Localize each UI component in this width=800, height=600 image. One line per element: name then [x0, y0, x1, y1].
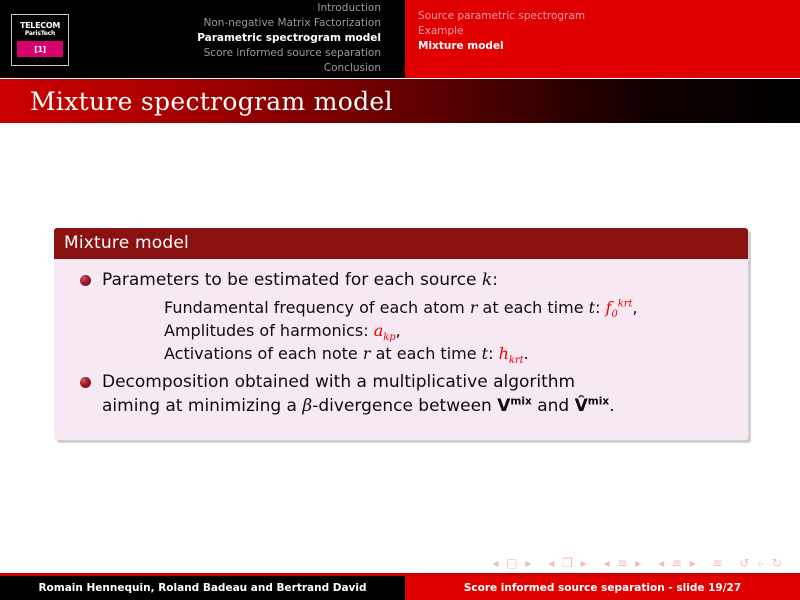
nav-subsection-source-parametric-spectrogram[interactable]: Source parametric spectrogram	[418, 9, 788, 24]
bullet2-line2-c: and	[532, 396, 575, 416]
sub-item-activations: Activations of each note r at each time …	[164, 342, 736, 365]
subitem3-symbol-base: h	[499, 344, 509, 363]
nav-section-introduction[interactable]: Introduction	[75, 1, 381, 16]
mixture-model-block: Mixture model Parameters to be estimated…	[54, 228, 748, 440]
bullet1-variable-k: k	[482, 270, 492, 290]
institution-logo: TELECOM ParisTech [1]	[11, 14, 69, 66]
subitem3-symbol: hkrt	[499, 344, 524, 363]
bullet1-text-after: :	[492, 270, 498, 290]
nav-subsection-mixture-model[interactable]: Mixture model	[418, 39, 788, 54]
matrix-v-mix-base: V	[497, 396, 510, 416]
beamer-navigation-symbols: ◂ □ ▸ ◂ ❐ ▸ ◂ ≡ ▸ ◂ ≡ ▸ ≡ ↺ ⌕ ↻	[0, 556, 800, 571]
subitem3-text-mid: at each time	[371, 344, 482, 363]
subitem3-var-r: r	[363, 344, 371, 363]
logo-magenta-block: [1]	[17, 41, 63, 57]
subitem1-symbol-sub: 0	[611, 309, 617, 320]
subitem3-colon: :	[488, 344, 498, 363]
nav-section-nmf[interactable]: Non-negative Matrix Factorization	[75, 16, 381, 31]
section-navigation: Introduction Non-negative Matrix Factori…	[75, 1, 395, 76]
nav-section-score-informed-source-separation[interactable]: Score informed source separation	[75, 46, 381, 61]
nav-section-parametric-spectrogram-model[interactable]: Parametric spectrogram model	[75, 31, 381, 46]
bullet2-line2-a: aiming at minimizing a	[102, 396, 302, 416]
subitem3-symbol-sub: krt	[509, 355, 524, 366]
subitem1-colon: :	[595, 298, 605, 317]
nav-section-conclusion[interactable]: Conclusion	[75, 61, 381, 76]
matrix-v-mix: Vmix	[497, 396, 532, 416]
subitem1-text-mid: at each time	[477, 298, 588, 317]
subitem1-text-before: Fundamental frequency of each atom	[164, 298, 470, 317]
matrix-v-hat-mix: V̂mix	[575, 396, 610, 416]
sub-item-list: Fundamental frequency of each atom r at …	[102, 296, 736, 365]
nav-symbol-back-search-forward-icon[interactable]: ↺ ⌕ ↻	[740, 556, 784, 570]
nav-symbol-document-icon[interactable]: ≡	[713, 556, 725, 570]
subitem2-text-before: Amplitudes of harmonics:	[164, 321, 374, 340]
matrix-v-hat-mix-sup: mix	[588, 395, 609, 407]
subitem2-symbol-base: a	[374, 321, 384, 340]
slide-footer: Romain Hennequin, Roland Badeau and Bert…	[0, 576, 800, 600]
footer-authors: Romain Hennequin, Roland Badeau and Bert…	[0, 576, 405, 600]
footer-slide-info: Score informed source separation - slide…	[405, 576, 800, 600]
matrix-v-mix-sup: mix	[510, 395, 531, 407]
nav-symbol-section-icon[interactable]: ◂ ≡ ▸	[658, 556, 698, 570]
slide-title-bar: Mixture spectrogram model	[0, 79, 800, 123]
subitem2-text-after: ,	[396, 321, 401, 340]
sub-item-fundamental-frequency: Fundamental frequency of each atom r at …	[164, 296, 736, 319]
bullet-item-parameters: Parameters to be estimated for each sour…	[66, 269, 736, 365]
nav-symbol-frame-icon[interactable]: ◂ ❐ ▸	[548, 556, 588, 570]
sub-item-amplitudes: Amplitudes of harmonics: akp,	[164, 319, 736, 342]
bullet1-text-before: Parameters to be estimated for each sour…	[102, 270, 482, 290]
nav-symbol-slide-icon[interactable]: ◂ □ ▸	[492, 556, 533, 570]
bullet-ball-icon	[80, 377, 91, 388]
matrix-v-hat-mix-base: V̂	[575, 396, 588, 416]
subitem3-text-before: Activations of each note	[164, 344, 363, 363]
nav-subsection-example[interactable]: Example	[418, 24, 788, 39]
beta-symbol: β	[302, 396, 312, 416]
subitem1-symbol-sup: krt	[618, 299, 633, 310]
subitem3-text-after: .	[524, 344, 529, 363]
block-title: Mixture model	[54, 228, 748, 259]
bullet-item-decomposition: Decomposition obtained with a multiplica…	[66, 371, 736, 418]
bullet-ball-icon	[80, 275, 91, 286]
slide-header: TELECOM ParisTech [1] Introduction Non-n…	[0, 0, 800, 78]
bullet2-line2-d: .	[609, 396, 614, 416]
page-title: Mixture spectrogram model	[0, 87, 393, 116]
subitem1-symbol: f0krt	[606, 298, 633, 317]
subitem1-text-after: ,	[633, 298, 638, 317]
bullet2-line2-b: -divergence between	[312, 396, 497, 416]
block-body: Parameters to be estimated for each sour…	[54, 259, 748, 440]
subitem2-symbol: akp	[374, 321, 396, 340]
bullet-list: Parameters to be estimated for each sour…	[66, 269, 736, 418]
bullet2-line1: Decomposition obtained with a multiplica…	[102, 372, 575, 392]
logo-line-2: ParisTech	[25, 30, 55, 38]
subsection-navigation: Source parametric spectrogram Example Mi…	[418, 9, 788, 54]
logo-line-1: TELECOM	[20, 21, 60, 30]
nav-symbol-subsection-icon[interactable]: ◂ ≡ ▸	[604, 556, 644, 570]
title-underline	[0, 123, 800, 126]
bullet2-line2: aiming at minimizing a β-divergence betw…	[102, 395, 736, 418]
